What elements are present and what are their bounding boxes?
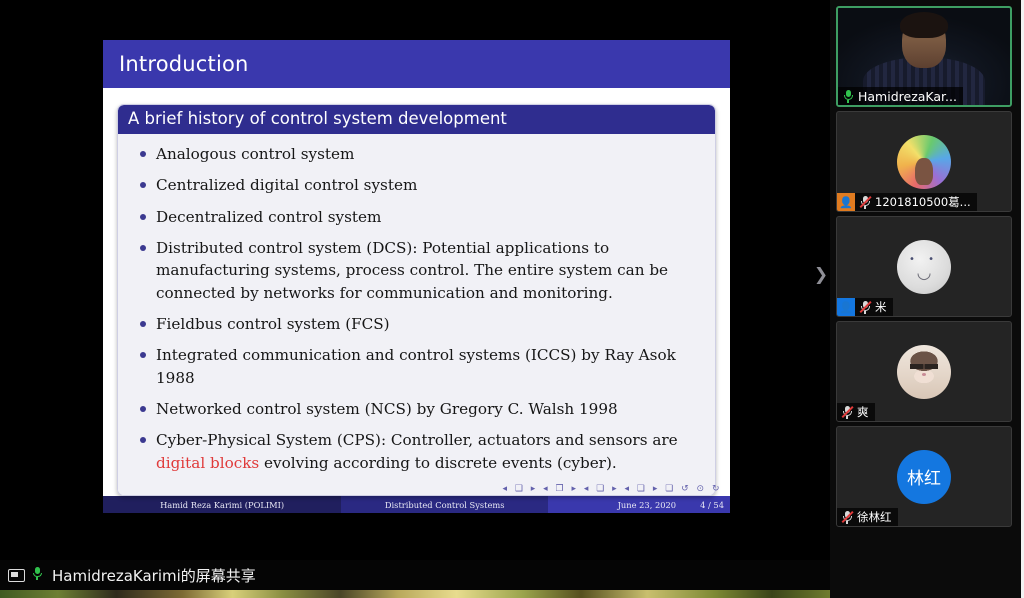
bullet-highlight-text: digital blocks (156, 454, 259, 472)
microphone-muted-icon (841, 406, 853, 419)
participant-name-wrap: HamidrezaKar... (838, 87, 963, 105)
bullet-text: Analogous control system (156, 145, 354, 163)
bullet-text: Centralized digital control system (156, 176, 417, 194)
participant-tile[interactable]: 👤米 (836, 216, 1012, 317)
bullet-text: Integrated communication and control sys… (156, 346, 676, 386)
slide-body: A brief history of control system develo… (103, 88, 730, 496)
participant-name: HamidrezaKar... (858, 89, 957, 104)
participant-tile-list: HamidrezaKar...👤1201810500葛...👤米爽林红徐林红 (836, 6, 1013, 527)
participant-tile[interactable]: 爽 (836, 321, 1012, 422)
chevron-right-icon[interactable]: ❯ (812, 258, 830, 292)
block-body: Analogous control systemCentralized digi… (118, 134, 715, 495)
participant-tile[interactable]: 👤1201810500葛... (836, 111, 1012, 212)
shared-screen-area: Introduction A brief history of control … (0, 0, 830, 560)
slide-footer: Hamid Reza Karimi (POLIMI) Distributed C… (103, 496, 730, 513)
host-badge-icon: 👤 (837, 193, 855, 211)
avatar (897, 345, 951, 399)
bullet-item: Centralized digital control system (134, 174, 699, 196)
bullet-text-tail: evolving according to discrete events (c… (259, 454, 616, 472)
participant-name-wrap: 爽 (837, 403, 875, 421)
participant-name: 1201810500葛... (875, 194, 971, 210)
microphone-muted-icon (841, 511, 853, 524)
microphone-icon (842, 90, 854, 103)
slide-title-bar: Introduction (103, 40, 730, 88)
presentation-slide: Introduction A brief history of control … (103, 40, 730, 509)
participants-panel: HamidrezaKar...👤1201810500葛...👤米爽林红徐林红 (830, 0, 1024, 598)
participant-name-wrap: 徐林红 (837, 508, 898, 526)
zoom-meeting-window: Introduction A brief history of control … (0, 0, 1024, 598)
participant-name-bar: 徐林红 (837, 508, 898, 526)
footer-author: Hamid Reza Karimi (POLIMI) (103, 496, 341, 513)
page-title: Introduction (119, 52, 249, 76)
block-title: A brief history of control system develo… (118, 105, 715, 134)
panel-bottom-filler (830, 590, 1021, 598)
cohost-badge-icon: 👤 (837, 298, 855, 316)
screen-share-status-text: HamidrezaKarimi的屏幕共享 (52, 565, 256, 586)
avatar (897, 240, 951, 294)
screen-share-status-bar: HamidrezaKarimi的屏幕共享 (0, 560, 830, 590)
bullet-item: Cyber-Physical System (CPS): Controller,… (134, 429, 699, 474)
footer-page-number: 4 / 54 (686, 496, 730, 513)
participant-tile[interactable]: 林红徐林红 (836, 426, 1012, 527)
microphone-icon (31, 567, 46, 583)
desktop-wallpaper-strip (0, 590, 830, 598)
microphone-muted-icon (859, 301, 871, 314)
bullet-list: Analogous control systemCentralized digi… (134, 143, 699, 474)
bullet-item: Networked control system (NCS) by Gregor… (134, 398, 699, 420)
participant-name-bar: 👤1201810500葛... (837, 193, 977, 211)
participant-name: 米 (875, 299, 887, 315)
participant-name-bar: 👤米 (837, 298, 893, 316)
bullet-item: Distributed control system (DCS): Potent… (134, 237, 699, 304)
bullet-item: Fieldbus control system (FCS) (134, 313, 699, 335)
bullet-item: Analogous control system (134, 143, 699, 165)
footer-date: June 23, 2020 (548, 496, 686, 513)
participant-name-wrap: 1201810500葛... (855, 193, 977, 211)
participant-tile[interactable]: HamidrezaKar... (836, 6, 1012, 107)
bullet-text: Fieldbus control system (FCS) (156, 315, 390, 333)
microphone-muted-icon (859, 196, 871, 209)
bullet-item: Decentralized control system (134, 206, 699, 228)
bullet-text: Decentralized control system (156, 208, 381, 226)
avatar (897, 135, 951, 189)
participant-name: 爽 (857, 404, 869, 420)
bullet-text: Cyber-Physical System (CPS): Controller,… (156, 431, 678, 449)
bullet-item: Integrated communication and control sys… (134, 344, 699, 389)
footer-subject: Distributed Control Systems (341, 496, 548, 513)
screen-share-icon (8, 569, 25, 582)
bullet-text: Distributed control system (DCS): Potent… (156, 239, 668, 302)
bullet-text: Networked control system (NCS) by Gregor… (156, 400, 618, 418)
participant-name-bar: 爽 (837, 403, 875, 421)
participant-name-wrap: 米 (855, 298, 893, 316)
avatar: 林红 (897, 450, 951, 504)
participant-name: 徐林红 (857, 509, 892, 525)
participant-name-bar: HamidrezaKar... (838, 87, 963, 105)
content-block: A brief history of control system develo… (117, 104, 716, 496)
beamer-navigation-icons[interactable]: ◂ ❑ ▸ ◂ ❐ ▸ ◂ ❏ ▸ ◂ ❏ ▸ ❏ ↺ ⊙ ↻ (502, 484, 722, 494)
